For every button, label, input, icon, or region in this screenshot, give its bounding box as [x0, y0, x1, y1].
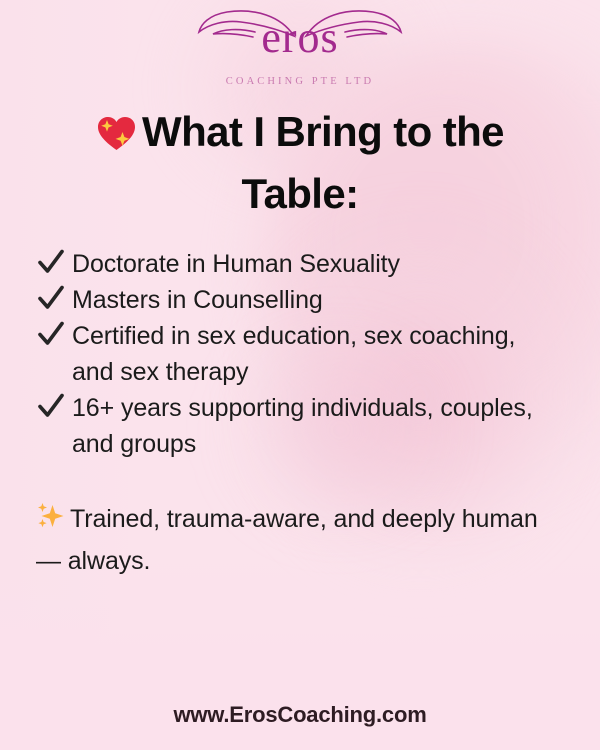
list-item-label: Certified in sex education, sex coaching…: [72, 322, 515, 386]
logo-mark: eros: [195, 6, 405, 72]
page-title-text: What I Bring to the Table:: [142, 108, 504, 217]
check-mark-icon: [37, 247, 65, 279]
credentials-list: Doctorate in Human Sexuality Masters in …: [36, 246, 536, 462]
list-item-label: Doctorate in Human Sexuality: [72, 250, 400, 278]
check-mark-icon: [37, 283, 65, 315]
logo-wordmark: eros: [195, 12, 405, 64]
page-title: What I Bring to the Table:: [34, 104, 566, 222]
sparkling-heart-icon: [96, 110, 136, 166]
closing-note: Trained, trauma-aware, and deeply human …: [36, 500, 546, 580]
closing-note-text: Trained, trauma-aware, and deeply human …: [36, 505, 538, 575]
check-mark-icon: [37, 391, 65, 423]
logo-tagline: COACHING PTE LTD: [0, 76, 600, 87]
list-item: Masters in Counselling: [36, 282, 536, 318]
list-item-label: 16+ years supporting individuals, couple…: [72, 394, 533, 458]
list-item: Doctorate in Human Sexuality: [36, 246, 536, 282]
poster-canvas: eros COACHING PTE LTD What I Bring to th…: [0, 0, 600, 750]
list-item: Certified in sex education, sex coaching…: [36, 318, 536, 390]
sparkles-icon: [36, 501, 66, 542]
brand-logo: eros COACHING PTE LTD: [0, 6, 600, 87]
list-item: 16+ years supporting individuals, couple…: [36, 390, 536, 462]
list-item-label: Masters in Counselling: [72, 286, 323, 314]
check-mark-icon: [37, 319, 65, 351]
website-url[interactable]: www.ErosCoaching.com: [0, 702, 600, 728]
